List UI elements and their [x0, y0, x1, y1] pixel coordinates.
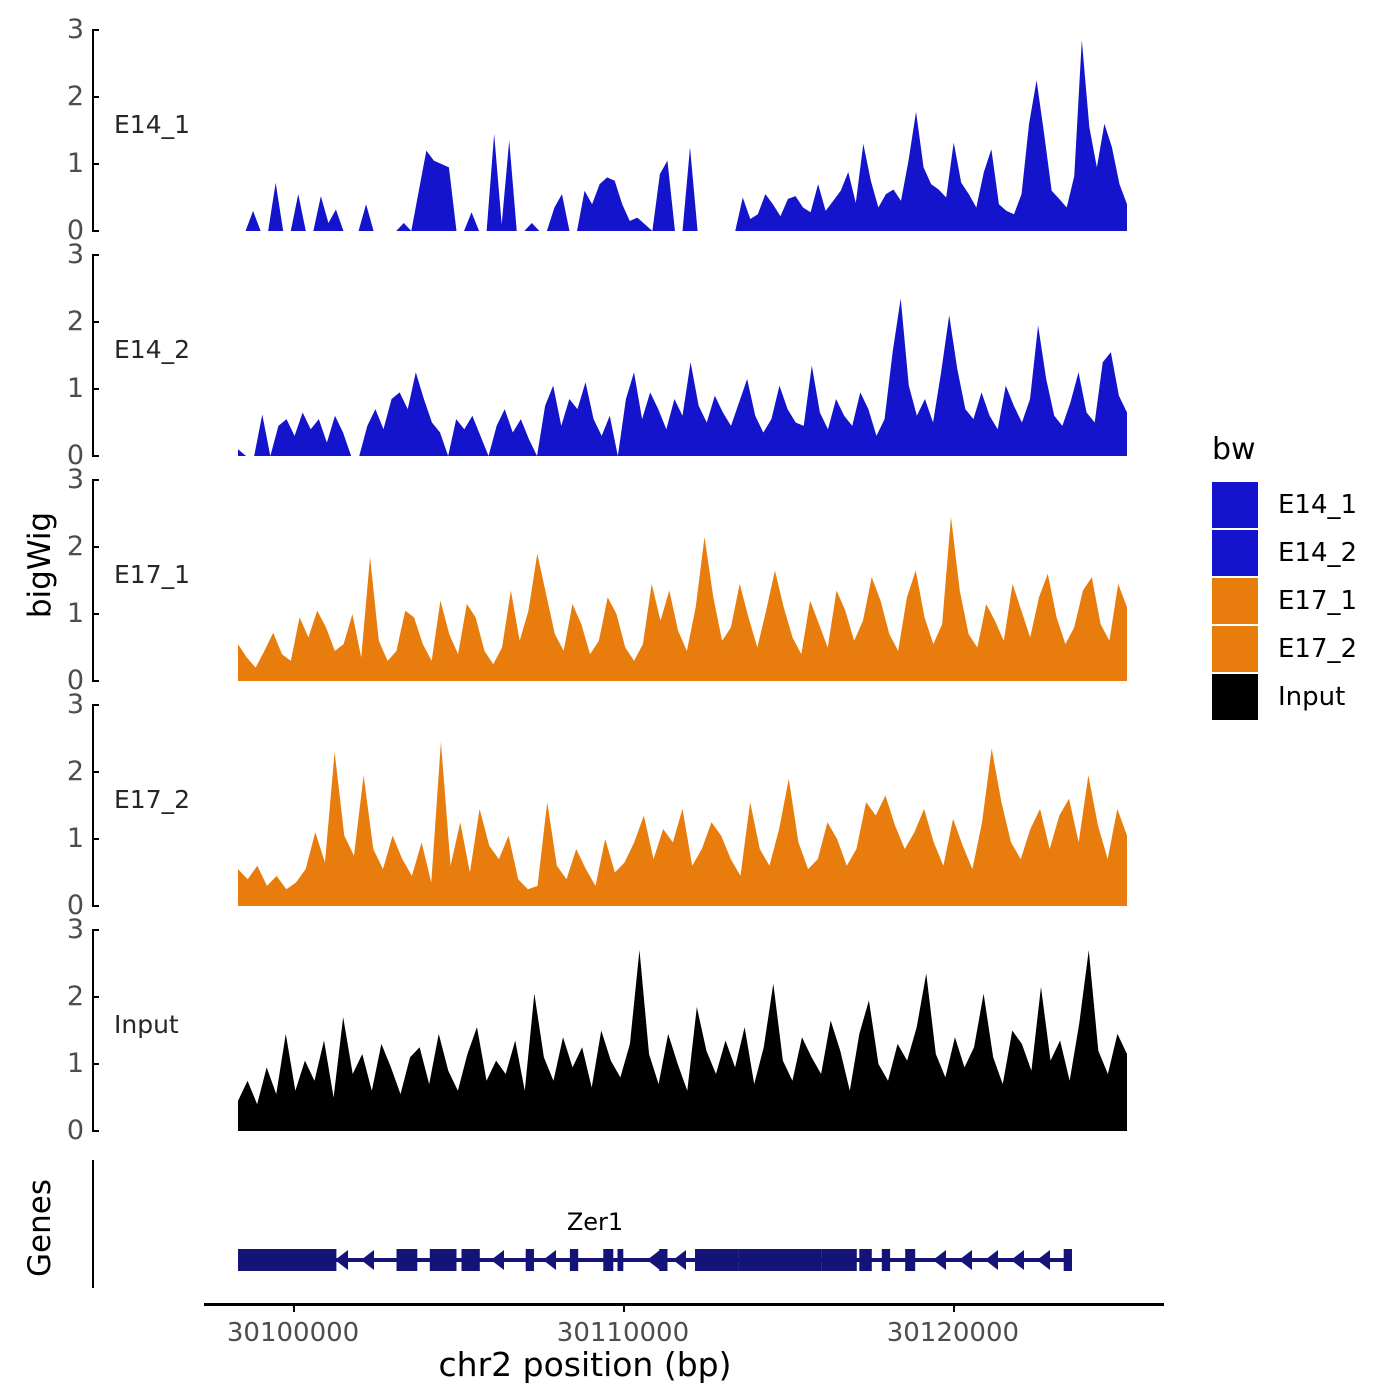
y-tick-label: 3: [67, 916, 84, 943]
legend-label: Input: [1278, 682, 1345, 712]
genes-axis-title: Genes: [10, 1155, 70, 1300]
legend: bw E14_1E14_2E17_1E17_2Input: [1212, 432, 1357, 721]
legend-item-e17_2[interactable]: E17_2: [1212, 625, 1357, 673]
y-tick-label: 2: [67, 308, 84, 335]
y-tick-label: 2: [67, 758, 84, 785]
legend-item-e14_1[interactable]: E14_1: [1212, 481, 1357, 529]
gene-model[interactable]: [92, 1160, 1172, 1304]
y-tick-label: 2: [67, 83, 84, 110]
legend-label: E17_1: [1278, 586, 1357, 616]
y-tick-label: 0: [67, 1117, 84, 1144]
legend-title: bw: [1212, 432, 1357, 467]
legend-swatch-e17_1: [1212, 578, 1258, 624]
y-tick-label: 1: [67, 1050, 84, 1077]
y-tick-label: 3: [67, 466, 84, 493]
gene-track: Zer1: [92, 1160, 1172, 1300]
signal-area-e17_1: [92, 480, 1172, 681]
y-tick-label: 2: [67, 983, 84, 1010]
x-tick: [953, 1303, 955, 1312]
legend-item-e14_2[interactable]: E14_2: [1212, 529, 1357, 577]
signal-area-e14_1: [92, 30, 1172, 231]
signal-area-e14_2: [92, 255, 1172, 456]
legend-item-e17_1[interactable]: E17_1: [1212, 577, 1357, 625]
legend-item-input[interactable]: Input: [1212, 673, 1357, 721]
y-tick-label: 1: [67, 375, 84, 402]
track-panel-e14_2: 0123E14_2: [92, 255, 1172, 456]
legend-label: E14_2: [1278, 538, 1357, 568]
x-axis-title: chr2 position (bp): [0, 1345, 1170, 1384]
y-tick-label: 1: [67, 600, 84, 627]
track-panel-e14_1: 0123E14_1: [92, 30, 1172, 231]
signal-area-e17_2: [92, 705, 1172, 906]
y-tick-label: 1: [67, 825, 84, 852]
legend-items: E14_1E14_2E17_1E17_2Input: [1212, 481, 1357, 721]
track-panel-e17_2: 0123E17_2: [92, 705, 1172, 906]
x-tick-label: 30120000: [887, 1318, 1019, 1348]
track-panel-input: 0123Input: [92, 930, 1172, 1131]
x-tick: [293, 1303, 295, 1312]
legend-swatch-e17_2: [1212, 626, 1258, 672]
y-tick-label: 3: [67, 691, 84, 718]
x-tick: [623, 1303, 625, 1312]
legend-label: E17_2: [1278, 634, 1357, 664]
legend-swatch-e14_2: [1212, 530, 1258, 576]
y-axis-title-bigwig: bigWig: [10, 0, 70, 1130]
legend-label: E14_1: [1278, 490, 1357, 520]
track-panel-e17_1: 0123E17_1: [92, 480, 1172, 681]
signal-area-input: [92, 930, 1172, 1131]
y-tick-label: 3: [67, 241, 84, 268]
legend-swatch-e14_1: [1212, 482, 1258, 528]
x-tick-label: 30110000: [557, 1318, 689, 1348]
y-tick-label: 3: [67, 16, 84, 43]
legend-swatch-input: [1212, 674, 1258, 720]
y-tick-label: 2: [67, 533, 84, 560]
y-tick-label: 1: [67, 150, 84, 177]
x-tick-label: 30100000: [227, 1318, 359, 1348]
